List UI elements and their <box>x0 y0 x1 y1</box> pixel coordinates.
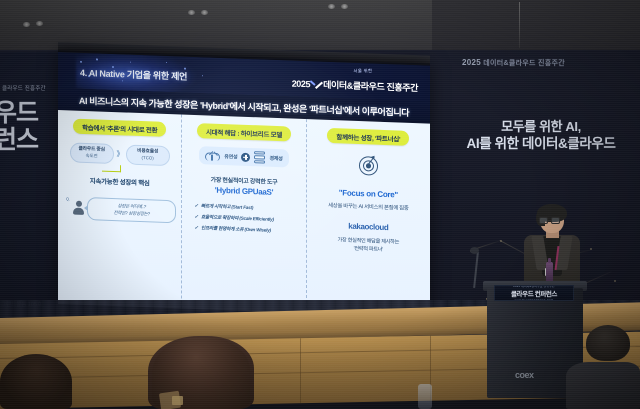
water-bottle-foreground <box>418 384 432 409</box>
column-3-tail: 가장 현실적인 해답을 제시하는 '전략적 파트너' <box>338 237 400 254</box>
slide-column-3: 함께하는 성장, '파트너십' "Focus on Core" 세상을 바꾸는 … <box>306 119 430 318</box>
check-icon: ✓ <box>194 202 198 209</box>
slide-brand-name: 데이터&클라우드 진흥주간 <box>323 80 418 93</box>
ceiling-light <box>188 10 195 15</box>
list-item: ✓ 인프라를 현명하게 소유 (Own Wisely) <box>194 224 300 235</box>
conference-photo-scene: 클라우드 진흥주간 우드 런스 그랜드볼룸 105호 2025 데이터&클라우드… <box>0 0 640 409</box>
column-1-chip-b: 비용효율성 (TCO) <box>126 144 170 166</box>
eyeglasses-icon <box>539 217 562 224</box>
bubble-line-2: 전략은? 성장성장는? <box>95 209 168 218</box>
list-item: ✓ 빠르게 시작하고 (Start Fast) <box>194 202 300 213</box>
avatar-body <box>73 207 84 214</box>
column-1-connector-line <box>90 164 150 176</box>
slide-column-2: 시대적 해답 : 하이브리드 모델 유연성 경제성 가장 현실적이고 강력한 도… <box>181 115 305 314</box>
right-wall-headline: 모두를 위한 AI, AI를 위한 데이터&클라우드 <box>436 118 640 152</box>
column-2-bullet-list: ✓ 빠르게 시작하고 (Start Fast) ✓ 효율적으로 확장하여 (Sc… <box>187 202 300 239</box>
projected-slide: 4. AI Native 기업을 위한 제언 서울 위한 2025데이터&클라우… <box>58 52 430 318</box>
left-banner-top-text: 클라우드 진흥주간 <box>2 84 66 92</box>
ceiling-light <box>201 10 208 15</box>
column-1-chip-row: 클라우드 중심 속도전 》 비용효율성 (TCO) <box>70 142 170 166</box>
column-1-chip-a: 클라우드 중심 속도전 <box>70 142 114 164</box>
column-2-main-text: 'Hybrid GPUaaS' <box>215 186 273 197</box>
column-2-bullet-2: 인프라를 현명하게 소유 (Own Wisely) <box>201 224 271 234</box>
right-wall-headline-line1: 모두를 위한 AI, <box>501 119 581 134</box>
column-3-quote: "Focus on Core" <box>339 188 398 199</box>
check-icon: ✓ <box>194 224 198 231</box>
cloud-shape <box>205 152 220 161</box>
checkmark-icon <box>311 79 322 88</box>
column-3-subtext: 세상을 바꾸는 AI 서비스의 본질에 집중 <box>328 201 408 212</box>
ceiling-light <box>36 21 43 26</box>
cloud-arrow <box>211 154 212 160</box>
audience-member-right <box>586 325 630 361</box>
column-2-bullet-1: 효율적으로 확장하여 (Scale Efficiently) <box>201 213 274 223</box>
column-1-speech-bubble: 성장은 어디에..? 전략은? 성장성장는? <box>87 197 176 223</box>
slide-body: 학습에서 '추론'의 시대로 전환 클라우드 중심 속도전 》 비용효율성 (T… <box>58 110 430 318</box>
server-rack-icon <box>254 151 265 163</box>
right-wall-event-name: 데이터&클라우드 진흥주간 <box>483 60 565 67</box>
slide-brand-year: 2025 <box>292 79 310 90</box>
column-1-question-row: Q. 성장은 어디에..? 전략은? 성장성장는? <box>63 196 176 223</box>
column-1-chip-a-sub: 속도전 <box>76 153 108 160</box>
audience-member-left <box>0 354 72 409</box>
column-1-core-text: 지속가능한 성장의 핵심 <box>90 175 150 187</box>
column-2-pill: 시대적 해답 : 하이브리드 모델 <box>197 123 291 141</box>
column-2-bullet-0: 빠르게 시작하고 (Start Fast) <box>201 202 253 211</box>
column-3-pill: 함께하는 성장, '파트너십' <box>327 128 409 146</box>
list-item: ✓ 효율적으로 확장하여 (Scale Efficiently) <box>194 213 300 224</box>
cloud-upload-icon <box>205 150 220 162</box>
coex-logo: coex <box>515 370 534 380</box>
slide-column-1: 학습에서 '추론'의 시대로 전환 클라우드 중심 속도전 》 비용효율성 (T… <box>58 110 181 309</box>
ceiling-rod <box>519 2 520 48</box>
slide-brand-pre: 서울 위한 <box>246 68 372 76</box>
column-2-icon-left-label: 유연성 <box>224 153 237 160</box>
audience-center-hair-clip <box>172 396 183 405</box>
podium-sign-post: CLOUD CONFERENCE 2025 <box>515 299 554 301</box>
right-wall-headline-line2: AI를 위한 데이터&클라우드 <box>436 135 640 152</box>
target-bullseye-icon <box>359 156 378 176</box>
ceiling-light <box>341 4 348 9</box>
microphone-head-left <box>470 247 479 254</box>
slide-event-brand: 서울 위한 2025데이터&클라우드 진흥주간 <box>292 69 418 97</box>
right-wall-year: 2025 <box>462 58 481 67</box>
column-2-icon-bar: 유연성 경제성 <box>199 146 288 167</box>
slide-brand-main: 2025데이터&클라우드 진흥주간 <box>292 79 418 94</box>
avatar-head <box>76 201 82 207</box>
check-icon: ✓ <box>194 213 198 220</box>
audience-right-shoulder <box>566 362 640 409</box>
column-3-brand: kakaocloud <box>348 222 388 232</box>
podium-sign: 2025 데이터&클라우드 진흥주간 클라우드 컨퍼런스 CLOUD CONFE… <box>494 285 574 301</box>
arrow-right-icon: 》 <box>117 149 123 159</box>
ceiling-light <box>23 22 30 27</box>
column-2-lead-text: 가장 현실적이고 강력한 도구 <box>211 175 278 186</box>
podium-sign-main: 클라우드 컨퍼런스 <box>511 288 557 298</box>
column-1-pill: 학습에서 '추론'의 시대로 전환 <box>73 119 166 137</box>
column-1-chip-b-sub: (TCO) <box>132 155 164 162</box>
right-wall-event-line: 2025 데이터&클라우드 진흥주간 <box>462 58 565 68</box>
water-bottle-podium <box>546 262 553 282</box>
ceiling-light <box>328 4 335 9</box>
column-2-icon-right-label: 경제성 <box>269 154 282 161</box>
plus-icon <box>241 152 250 161</box>
person-avatar-icon <box>73 201 84 214</box>
column-1-question-label: Q. <box>66 196 70 201</box>
